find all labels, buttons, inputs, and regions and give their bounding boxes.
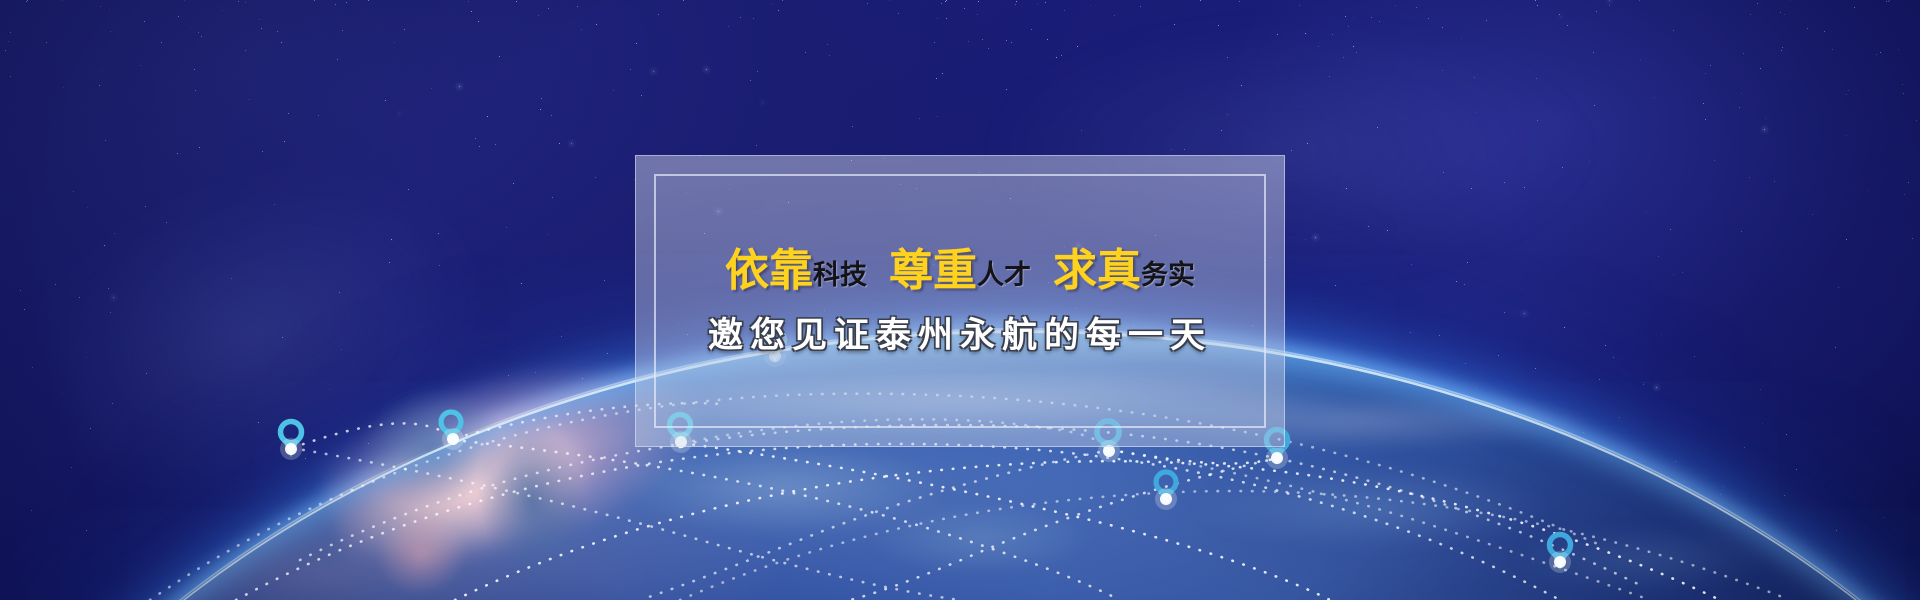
slogan-segment-6: 务实: [1141, 262, 1195, 289]
slogan-segment-3: 尊重: [889, 249, 977, 293]
pin-base-dot: [1554, 556, 1566, 568]
network-arc: [300, 425, 1640, 585]
network-arc: [292, 423, 453, 448]
slogan-segment-2: 科技: [813, 262, 867, 289]
network-arc: [640, 450, 1110, 600]
slogan-line-2: 邀您见证泰州永航的每一天: [708, 319, 1212, 354]
network-arc: [453, 440, 1120, 600]
pin-base-dot: [285, 443, 297, 455]
slogan-line-1: 依靠科技尊重人才求真务实: [725, 249, 1195, 293]
network-arc: [680, 491, 1790, 600]
pin-base-dot: [1271, 452, 1283, 464]
network-arc: [455, 461, 1720, 600]
slogan-segment-4: 人才: [977, 262, 1031, 289]
network-arc: [1110, 450, 1278, 463]
network-arc: [236, 444, 1560, 600]
network-arc: [1110, 450, 1650, 600]
banner-root: 依靠科技尊重人才求真务实 邀您见证泰州永航的每一天: [0, 0, 1920, 600]
pin-base-dot: [1160, 493, 1172, 505]
slogan-panel: 依靠科技尊重人才求真务实 邀您见证泰州永航的每一天: [635, 155, 1285, 447]
network-arc: [292, 448, 960, 600]
slogan-segment-1: 依靠: [725, 249, 813, 293]
network-arc: [850, 458, 1278, 600]
slogan-segment-5: 求真: [1053, 249, 1141, 293]
slogan-lines: 依靠科技尊重人才求真务实 邀您见证泰州永航的每一天: [636, 156, 1284, 446]
network-arc: [682, 443, 1330, 600]
pin-base-dot: [447, 433, 459, 445]
